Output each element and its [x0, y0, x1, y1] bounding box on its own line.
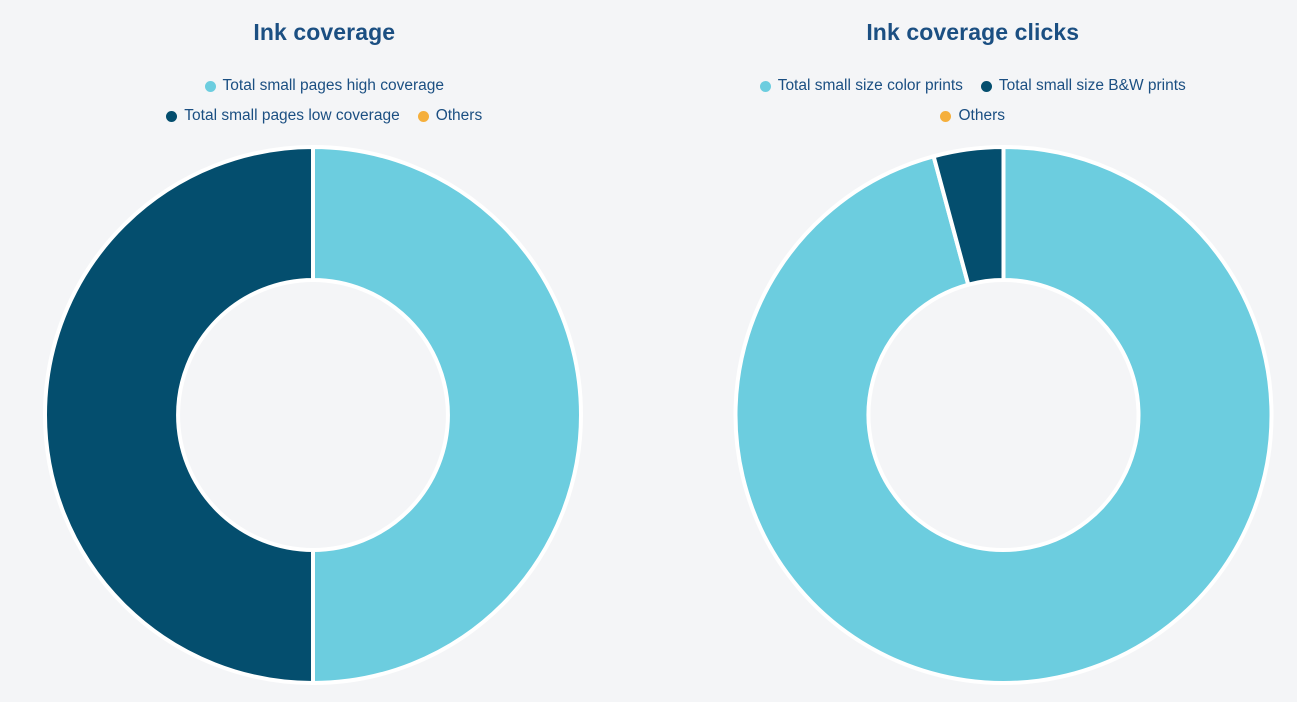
- donut-slice[interactable]: Total small pages high coverage: 50%: [313, 147, 581, 683]
- donut-svg-ink-coverage[interactable]: Total small pages high coverage: 50%Tota…: [0, 0, 648, 702]
- donut-chart-ink-coverage-clicks: Total small size color prints: 95.8%Tota…: [649, 0, 1297, 702]
- donut-svg-ink-coverage-clicks[interactable]: Total small size color prints: 95.8%Tota…: [649, 0, 1297, 702]
- donut-slice[interactable]: Total small pages low coverage: 50%: [45, 147, 313, 683]
- chart-panel-ink-coverage: Ink coverage Total small pages high cove…: [0, 0, 649, 702]
- donut-chart-ink-coverage: Total small pages high coverage: 50%Tota…: [0, 0, 649, 702]
- chart-panel-ink-coverage-clicks: Ink coverage clicks Total small size col…: [649, 0, 1297, 702]
- ink-coverage-dashboard: Ink coverage Total small pages high cove…: [0, 0, 1297, 702]
